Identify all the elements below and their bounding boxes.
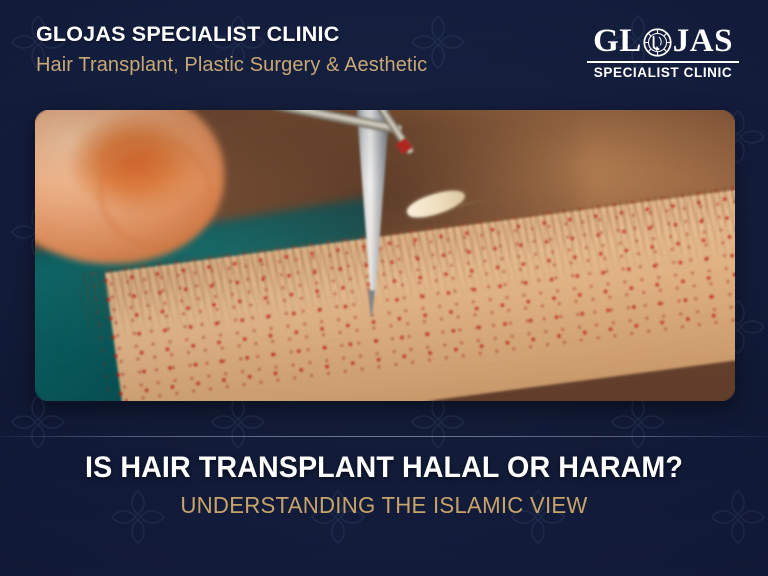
- section-divider: [0, 436, 768, 437]
- banner-header: GLOJAS SPECIALIST CLINIC Hair Transplant…: [0, 0, 768, 104]
- brand-tagline: Hair Transplant, Plastic Surgery & Aesth…: [36, 55, 427, 75]
- logo-wordmark: GL: [584, 24, 742, 58]
- glojas-medallion-emblem-icon: [643, 28, 672, 57]
- logo-subtitle: SPECIALIST CLINIC: [584, 66, 742, 80]
- logo-word-right: JAS: [673, 25, 733, 58]
- logo-divider-rule: [587, 61, 739, 63]
- logo-word-left: GL: [593, 25, 642, 58]
- brand-block: GLOJAS SPECIALIST CLINIC Hair Transplant…: [36, 24, 427, 75]
- hair-transplant-photo: [35, 110, 735, 401]
- photo-canvas: [35, 110, 735, 401]
- glojas-logo: GL: [584, 24, 742, 80]
- brand-name: GLOJAS SPECIALIST CLINIC: [36, 24, 427, 46]
- photo-color-grade: [35, 110, 735, 401]
- headline-text: IS HAIR TRANSPLANT HALAL OR HARAM?: [17, 452, 750, 483]
- promo-banner: GLOJAS SPECIALIST CLINIC Hair Transplant…: [0, 0, 768, 576]
- subheadline-text: UNDERSTANDING THE ISLAMIC VIEW: [13, 494, 754, 517]
- banner-footer: IS HAIR TRANSPLANT HALAL OR HARAM? UNDER…: [0, 452, 768, 517]
